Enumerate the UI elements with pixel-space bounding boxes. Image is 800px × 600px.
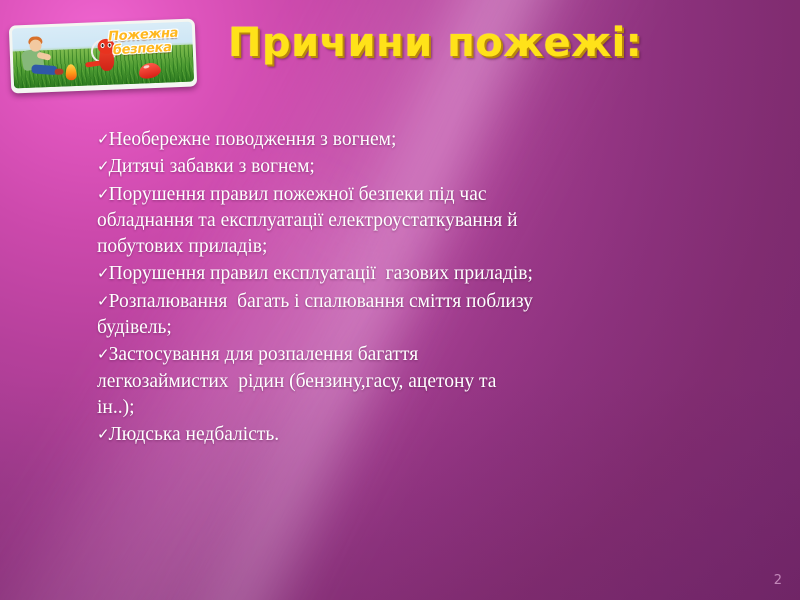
bullet-text: Застосування для розпалення багаття: [109, 344, 419, 365]
bullet-continuation-line: ін..);: [97, 395, 657, 421]
bullet-continuation-line: будівель;: [97, 315, 657, 341]
bullet-text: Порушення правил експлуатації газових пр…: [109, 263, 533, 284]
checkmark-icon: ✓: [97, 130, 109, 148]
bullet-list: ✓Необережне поводження з вогнем;✓Дитячі …: [97, 126, 657, 449]
bullet-item: ✓Необережне поводження з вогнем;: [97, 126, 657, 153]
bullet-text: Порушення правил пожежної безпеки під ча…: [109, 184, 487, 205]
page-number: 2: [774, 573, 782, 588]
bullet-text: легкозаймистих рідин (бензину,гасу, ацет…: [97, 371, 496, 392]
bullet-item: ✓Дитячі забавки з вогнем;: [97, 153, 657, 180]
bullet-text: побутових приладів;: [97, 236, 267, 257]
checkmark-icon: ✓: [97, 345, 109, 363]
bullet-item: ✓Людська недбалість.: [97, 421, 657, 448]
bullet-continuation-line: легкозаймистих рідин (бензину,гасу, ацет…: [97, 369, 657, 395]
bullet-text: Людська недбалість.: [109, 424, 280, 445]
bullet-item: ✓Порушення правил експлуатації газових п…: [97, 260, 657, 287]
slide-title: Причини пожежі:: [228, 18, 642, 68]
boy-shoe-graphic: [54, 69, 63, 75]
bullet-item: ✓Застосування для розпалення багаття: [97, 341, 657, 368]
presentation-slide: Пожежна безпека Причини пожежі: ✓Необере…: [0, 0, 800, 600]
checkmark-icon: ✓: [97, 425, 109, 443]
checkmark-icon: ✓: [97, 292, 109, 310]
bullet-text: ін..);: [97, 397, 135, 418]
checkmark-icon: ✓: [97, 185, 109, 203]
bullet-text: обладнання та експлуатації електроустатк…: [97, 210, 518, 231]
bullet-continuation-line: побутових приладів;: [97, 234, 657, 260]
checkmark-icon: ✓: [97, 157, 109, 175]
logo-wordmark: Пожежна безпека: [108, 26, 194, 59]
bullet-continuation-line: обладнання та експлуатації електроустатк…: [97, 208, 657, 234]
bullet-text: Розпалювання багать і спалювання сміття …: [109, 291, 533, 312]
bullet-text: Дитячі забавки з вогнем;: [109, 156, 315, 177]
bullet-item: ✓Розпалювання багать і спалювання сміття…: [97, 288, 657, 315]
bullet-text: будівель;: [97, 317, 172, 338]
flame-mascot-eye-left: [101, 43, 105, 48]
logo-artwork: Пожежна безпека: [12, 22, 194, 89]
fire-safety-logo-banner: Пожежна безпека: [9, 18, 197, 93]
checkmark-icon: ✓: [97, 264, 109, 282]
bullet-text: Необережне поводження з вогнем;: [109, 129, 397, 150]
bullet-item: ✓Порушення правил пожежної безпеки під ч…: [97, 181, 657, 208]
